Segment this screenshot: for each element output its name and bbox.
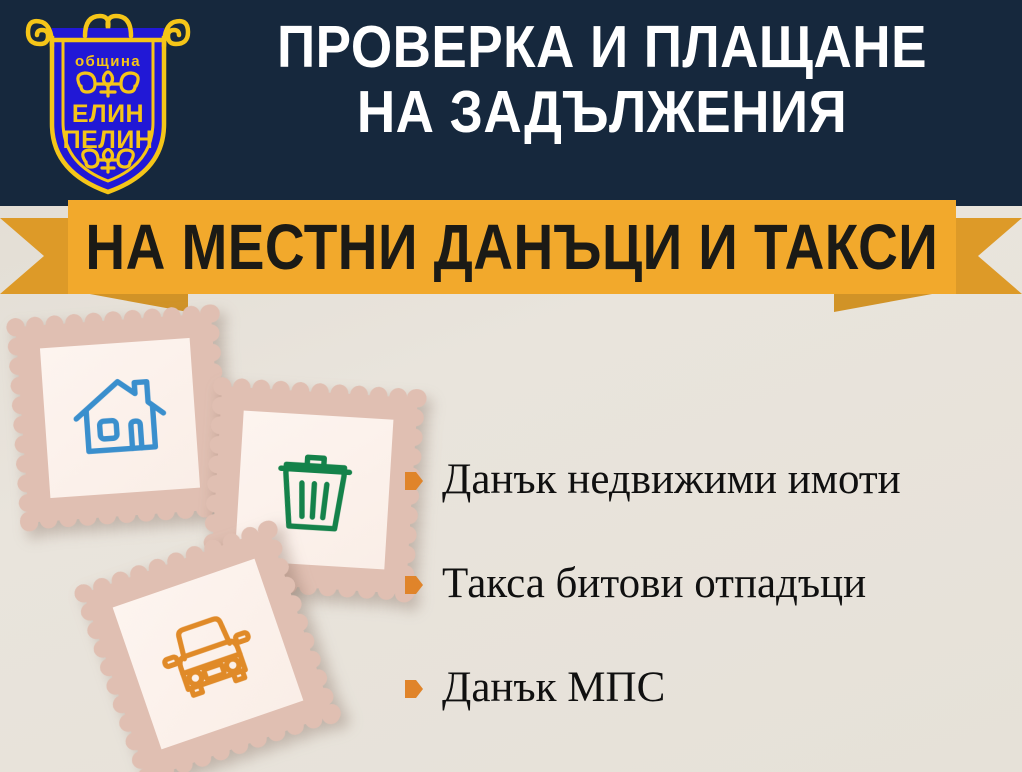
bullet-arrow-icon [404,677,424,701]
car-icon [142,588,274,720]
list-item[interactable]: Такса битови отпадъци [404,532,1004,636]
stamp-inner-vehicle [113,559,304,750]
list-item-label: Данък МПС [442,665,665,710]
svg-text:ЕЛИН: ЕЛИН [72,100,144,128]
house-icon [64,362,175,473]
municipality-coat-of-arms-logo: община ЕЛИН ПЕЛИН [22,6,194,196]
tax-type-list: Данък недвижими имоти Такса битови отпад… [404,428,1004,740]
subtitle-ribbon: НА МЕСТНИ ДАНЪЦИ И ТАКСИ [0,196,1022,306]
stamp-inner-property [40,338,200,498]
list-item-label: Данък недвижими имоти [442,457,901,502]
list-item[interactable]: Данък МПС [404,636,1004,740]
ribbon-label: НА МЕСТНИ ДАНЪЦИ И ТАКСИ [86,215,939,279]
list-item-label: Такса битови отпадъци [442,561,866,606]
stamp-card-property [15,313,224,522]
poster-root: община ЕЛИН ПЕЛИН [0,0,1022,772]
svg-text:община: община [75,53,141,70]
list-item[interactable]: Данък недвижими имоти [404,428,1004,532]
ribbon-plate: НА МЕСТНИ ДАНЪЦИ И ТАКСИ [68,200,956,294]
title-line-1: ПРОВЕРКА И ПЛАЩАНЕ [237,18,968,76]
title-line-2: НА ЗАДЪЛЖЕНИЯ [237,83,968,141]
poster-header: община ЕЛИН ПЕЛИН [0,0,1022,206]
poster-title: ПРОВЕРКА И ПЛАЩАНЕ НА ЗАДЪЛЖЕНИЯ [196,18,1008,142]
bullet-arrow-icon [404,573,424,597]
bullet-arrow-icon [404,469,424,493]
